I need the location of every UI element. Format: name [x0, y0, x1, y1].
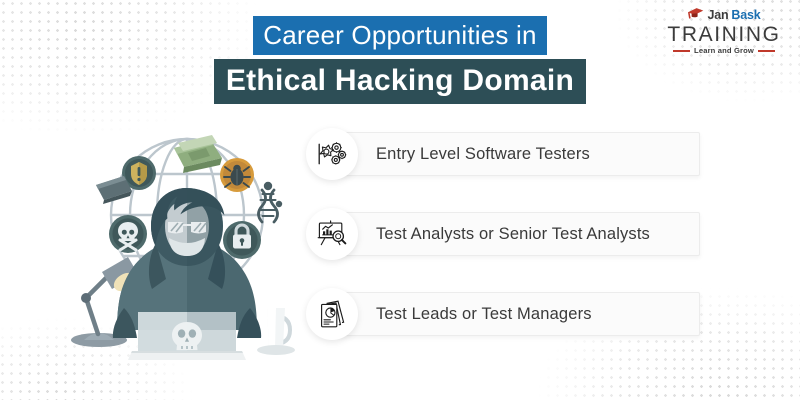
bug-badge [220, 158, 254, 192]
list-item-label: Test Leads or Test Managers [376, 292, 592, 336]
list-item[interactable]: Entry Level Software Testers [306, 132, 700, 176]
coffee-mug [257, 308, 295, 355]
padlock-badge [223, 221, 261, 259]
headline-line-2-wrap: Ethical Hacking Domain [0, 59, 800, 104]
infographic-canvas: JanBask TRAINING Learn and Grow Career O… [0, 0, 800, 400]
skull-crossbones-badge [109, 215, 147, 253]
list-item[interactable]: Test Leads or Test Managers [306, 292, 700, 336]
headline-block: Career Opportunities in Ethical Hacking … [0, 16, 800, 104]
hooded-hacker-at-laptop-illustration [62, 112, 312, 362]
opportunity-list: Entry Level Software Testers [306, 132, 700, 336]
headline-line-1: Career Opportunities in [253, 16, 546, 55]
headline-line-2: Ethical Hacking Domain [214, 59, 586, 104]
gears-cogs-icon [306, 128, 358, 180]
list-item-label: Test Analysts or Senior Test Analysts [376, 212, 650, 256]
list-item[interactable]: Test Analysts or Senior Test Analysts [306, 212, 700, 256]
list-item-label: Entry Level Software Testers [376, 132, 590, 176]
presentation-chart-magnifier-icon [306, 208, 358, 260]
report-documents-pie-chart-icon [306, 288, 358, 340]
laptop-with-skull [128, 312, 246, 360]
headline-line-1-wrap: Career Opportunities in [0, 16, 800, 55]
